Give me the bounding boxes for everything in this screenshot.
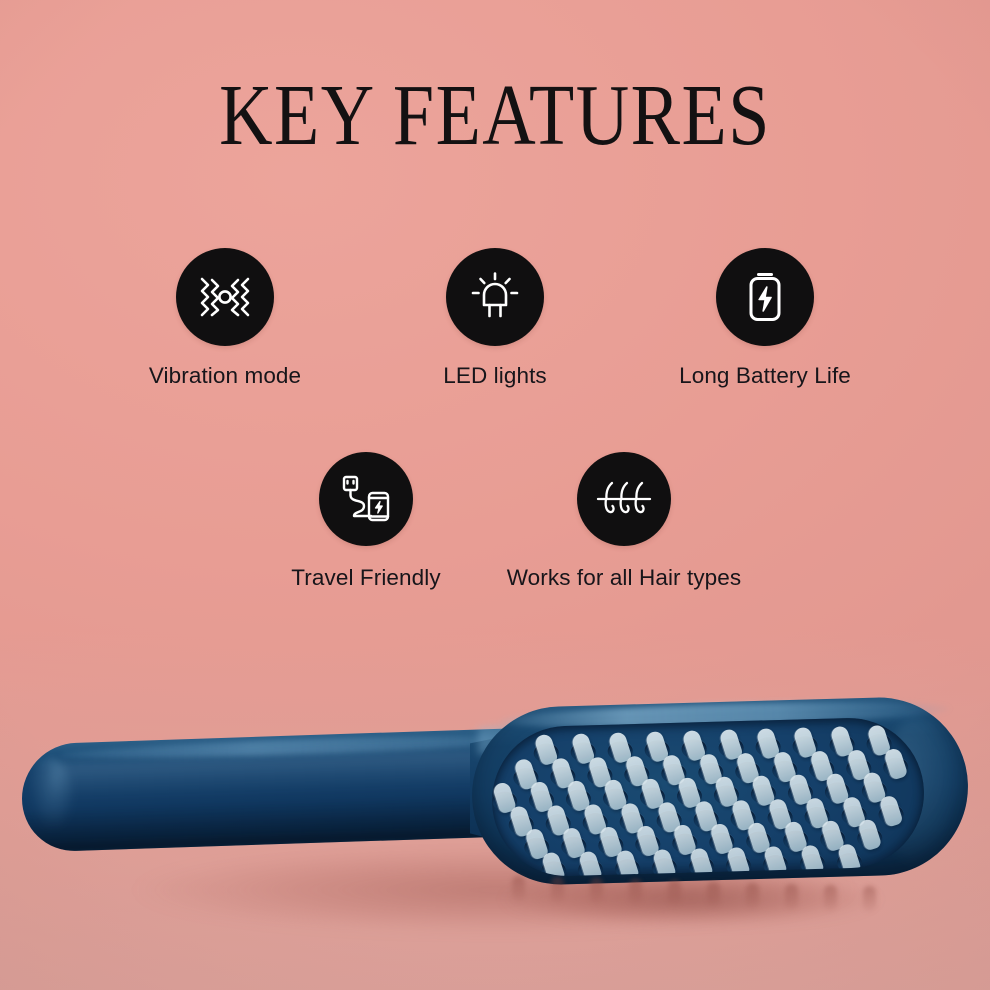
brush-bristle-plate xyxy=(490,716,926,878)
feature-vibration-mode: Vibration mode xyxy=(90,248,360,389)
feature-long-battery-life: Long Battery Life xyxy=(630,248,900,389)
feature-led-lights: LED lights xyxy=(360,248,630,389)
icon-badge-led xyxy=(446,248,544,346)
feature-label-led-lights: LED lights xyxy=(443,363,547,389)
bristle-tip-shadow xyxy=(785,884,798,910)
icon-badge-travel xyxy=(319,452,413,546)
vibration-icon xyxy=(196,274,254,320)
hair-follicles-icon xyxy=(594,478,654,520)
bristle-tip-shadow xyxy=(629,879,642,905)
usb-powerbank-icon xyxy=(338,473,394,525)
bristle-tooth xyxy=(878,794,903,828)
product-image xyxy=(0,640,990,990)
feature-row-top: Vibration mode LED lights xyxy=(0,248,990,389)
bristle-tooth xyxy=(857,818,882,852)
bristle-tip-shadow xyxy=(863,886,876,912)
feature-hair-types: Works for all Hair types xyxy=(495,452,753,591)
feature-label-vibration-mode: Vibration mode xyxy=(149,363,301,389)
bristle-tooth xyxy=(882,746,907,780)
bristle-tip-shadow xyxy=(590,878,603,904)
feature-label-long-battery-life: Long Battery Life xyxy=(679,363,851,389)
feature-label-hair-types: Works for all Hair types xyxy=(507,565,742,591)
bristle-tip-shadow xyxy=(512,876,525,902)
bristle-tip-shadow xyxy=(824,885,837,911)
bristle-tip-shadow xyxy=(551,877,564,903)
page-title: KEY FEATURES xyxy=(0,72,990,159)
bristle-tip-shadow xyxy=(707,882,720,908)
bristle-tip-shadow xyxy=(746,883,759,909)
feature-travel-friendly: Travel Friendly xyxy=(237,452,495,591)
feature-row-bottom: Travel Friendly Works f xyxy=(0,452,990,591)
feature-label-travel-friendly: Travel Friendly xyxy=(291,565,440,591)
icon-badge-hair-types xyxy=(577,452,671,546)
led-bulb-icon xyxy=(469,271,521,323)
icon-badge-vibration xyxy=(176,248,274,346)
icon-badge-battery xyxy=(716,248,814,346)
bristle-tip-shadow xyxy=(668,880,681,906)
product-handle xyxy=(22,727,542,852)
battery-charging-icon xyxy=(744,270,786,324)
